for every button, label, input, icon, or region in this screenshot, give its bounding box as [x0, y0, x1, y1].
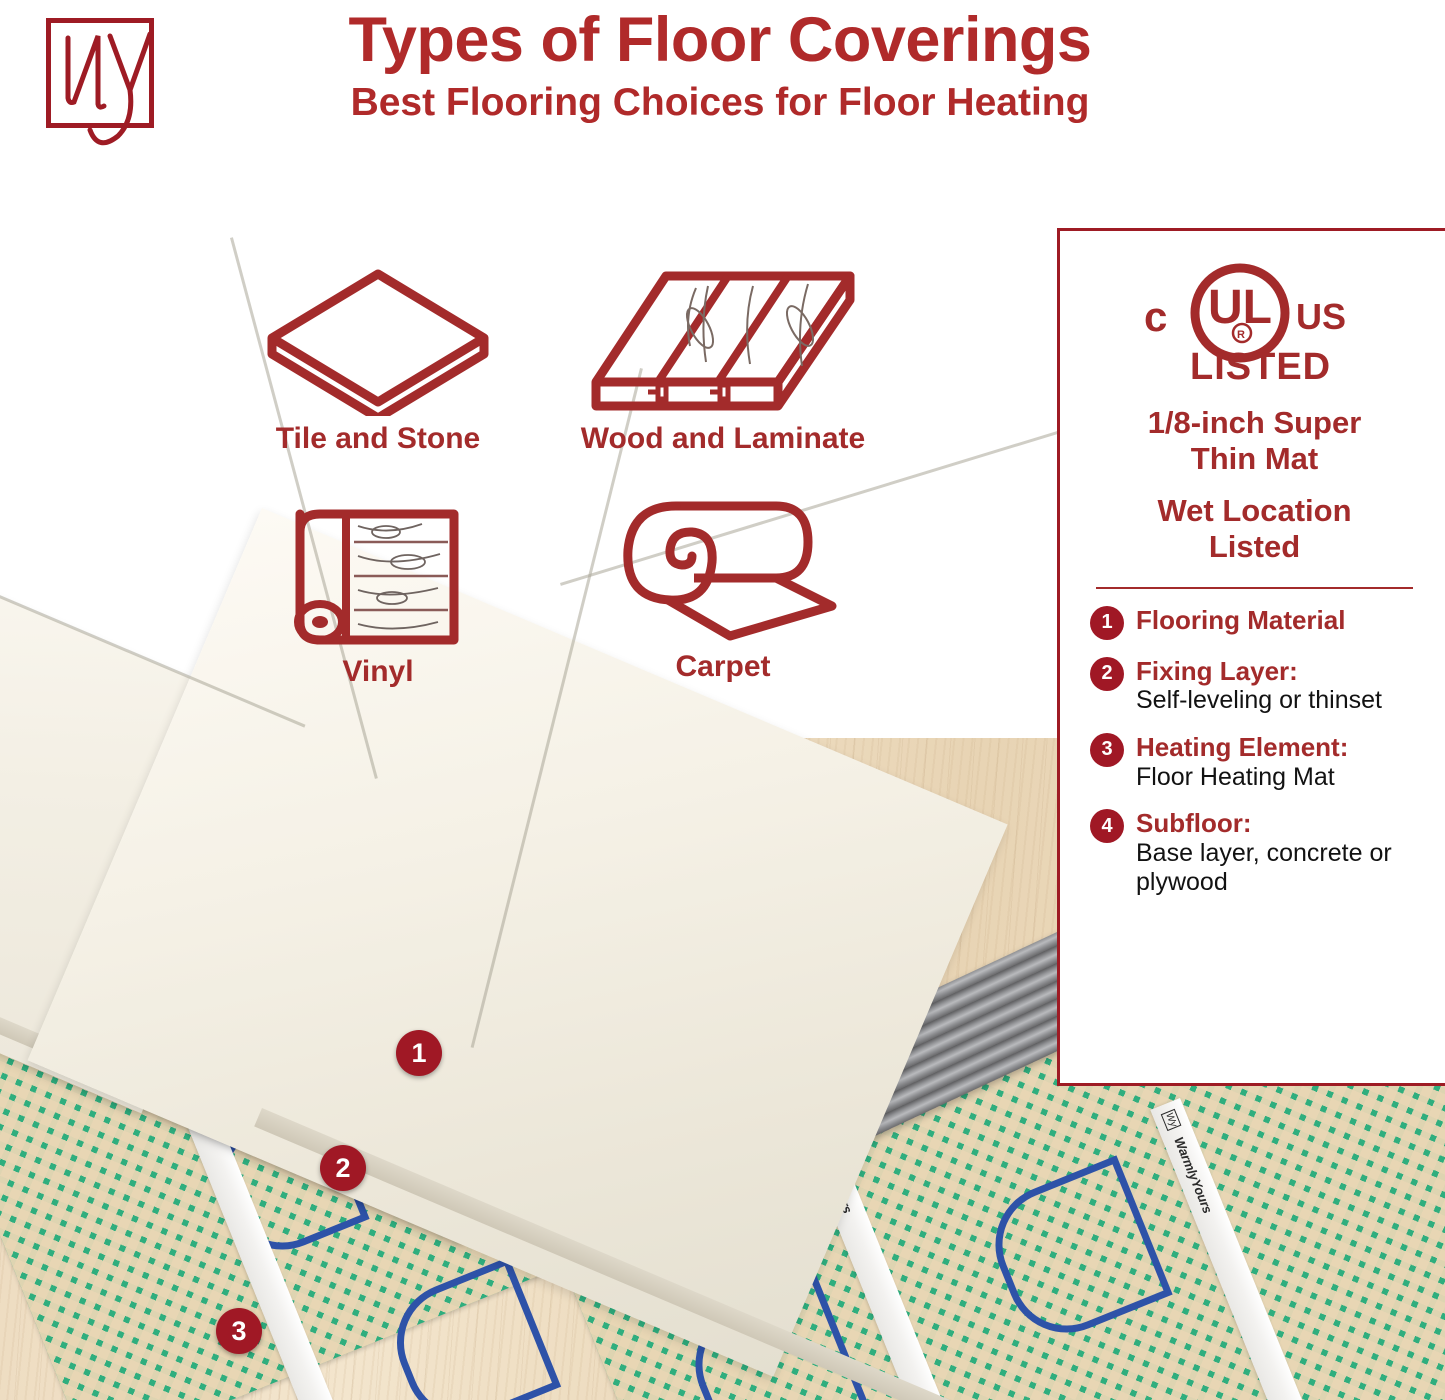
covering-item-vinyl: Vinyl	[240, 494, 516, 689]
svg-text:c: c	[1144, 293, 1167, 340]
page-title: Types of Floor Coverings	[180, 6, 1260, 74]
covering-label-carpet: Carpet	[578, 650, 868, 684]
svg-text:UL: UL	[1208, 281, 1272, 334]
ul-listed-mark-wrapper: c UL R US LISTED	[1090, 259, 1419, 387]
legend-text-3: Heating Element: Floor Heating Mat	[1136, 732, 1419, 792]
headline-line-1: 1/8-inch Super	[1090, 405, 1419, 441]
covering-item-tile: Tile and Stone	[228, 266, 528, 456]
title-block: Types of Floor Coverings Best Flooring C…	[180, 6, 1260, 127]
floor-covering-icons: Tile and Stone Wood and Laminate	[228, 266, 908, 736]
vinyl-roll-icon	[288, 494, 468, 649]
legend-desc-3: Floor Heating Mat	[1136, 763, 1419, 793]
legend-title-4: Subfloor:	[1136, 808, 1419, 839]
svg-text:LISTED: LISTED	[1190, 346, 1331, 387]
legend-item-4: 4 Subfloor: Base layer, concrete or plyw…	[1090, 808, 1419, 898]
diagram-marker-3: 3	[216, 1308, 262, 1354]
panel-headline: 1/8-inch Super Thin Mat Wet Location Lis…	[1090, 405, 1419, 565]
headline-line-3: Wet Location	[1090, 493, 1419, 529]
legend-text-4: Subfloor: Base layer, concrete or plywoo…	[1136, 808, 1419, 898]
page-subtitle: Best Flooring Choices for Floor Heating	[180, 80, 1260, 127]
covering-item-wood: Wood and Laminate	[538, 266, 908, 456]
legend-desc-4: Base layer, concrete or plywood	[1136, 839, 1419, 898]
page-header: Types of Floor Coverings Best Flooring C…	[0, 0, 1445, 200]
warmlyyours-logo	[46, 18, 154, 128]
legend-item-1: 1 Flooring Material	[1090, 605, 1419, 640]
covering-label-vinyl: Vinyl	[240, 655, 516, 689]
legend-number-4: 4	[1090, 809, 1124, 843]
legend-number-1: 1	[1090, 606, 1124, 640]
panel-divider	[1096, 587, 1413, 589]
covering-item-carpet: Carpet	[578, 494, 868, 684]
legend-number-2: 2	[1090, 657, 1124, 691]
ul-listed-icon: c UL R US LISTED	[1130, 259, 1380, 387]
svg-text:US: US	[1296, 296, 1346, 337]
svg-text:R: R	[1237, 329, 1245, 341]
diagram-marker-2: 2	[320, 1145, 366, 1191]
headline-line-4: Listed	[1090, 529, 1419, 565]
legend-text-1: Flooring Material	[1136, 605, 1419, 636]
covering-label-wood: Wood and Laminate	[538, 422, 908, 456]
tile-stone-icon	[262, 266, 494, 416]
legend-title-1: Flooring Material	[1136, 605, 1419, 636]
legend-title-3: Heating Element:	[1136, 732, 1419, 763]
diagram-marker-1: 1	[396, 1030, 442, 1076]
headline-line-2: Thin Mat	[1090, 441, 1419, 477]
infographic-root: Wy WarmlyYours Wy WarmlyYours Wy WarmlyY…	[0, 0, 1445, 1400]
legend-title-2: Fixing Layer:	[1136, 656, 1419, 687]
legend-text-2: Fixing Layer: Self-leveling or thinset	[1136, 656, 1419, 716]
wood-laminate-icon	[588, 266, 858, 416]
legend-desc-2: Self-leveling or thinset	[1136, 686, 1419, 716]
logo-wy-monogram-icon	[38, 12, 168, 147]
info-panel: c UL R US LISTED 1/8-inch Super Thin Mat…	[1057, 228, 1445, 1086]
legend-item-2: 2 Fixing Layer: Self-leveling or thinset	[1090, 656, 1419, 716]
legend-number-3: 3	[1090, 733, 1124, 767]
legend-item-3: 3 Heating Element: Floor Heating Mat	[1090, 732, 1419, 792]
carpet-roll-icon	[608, 494, 838, 644]
covering-label-tile: Tile and Stone	[228, 422, 528, 456]
